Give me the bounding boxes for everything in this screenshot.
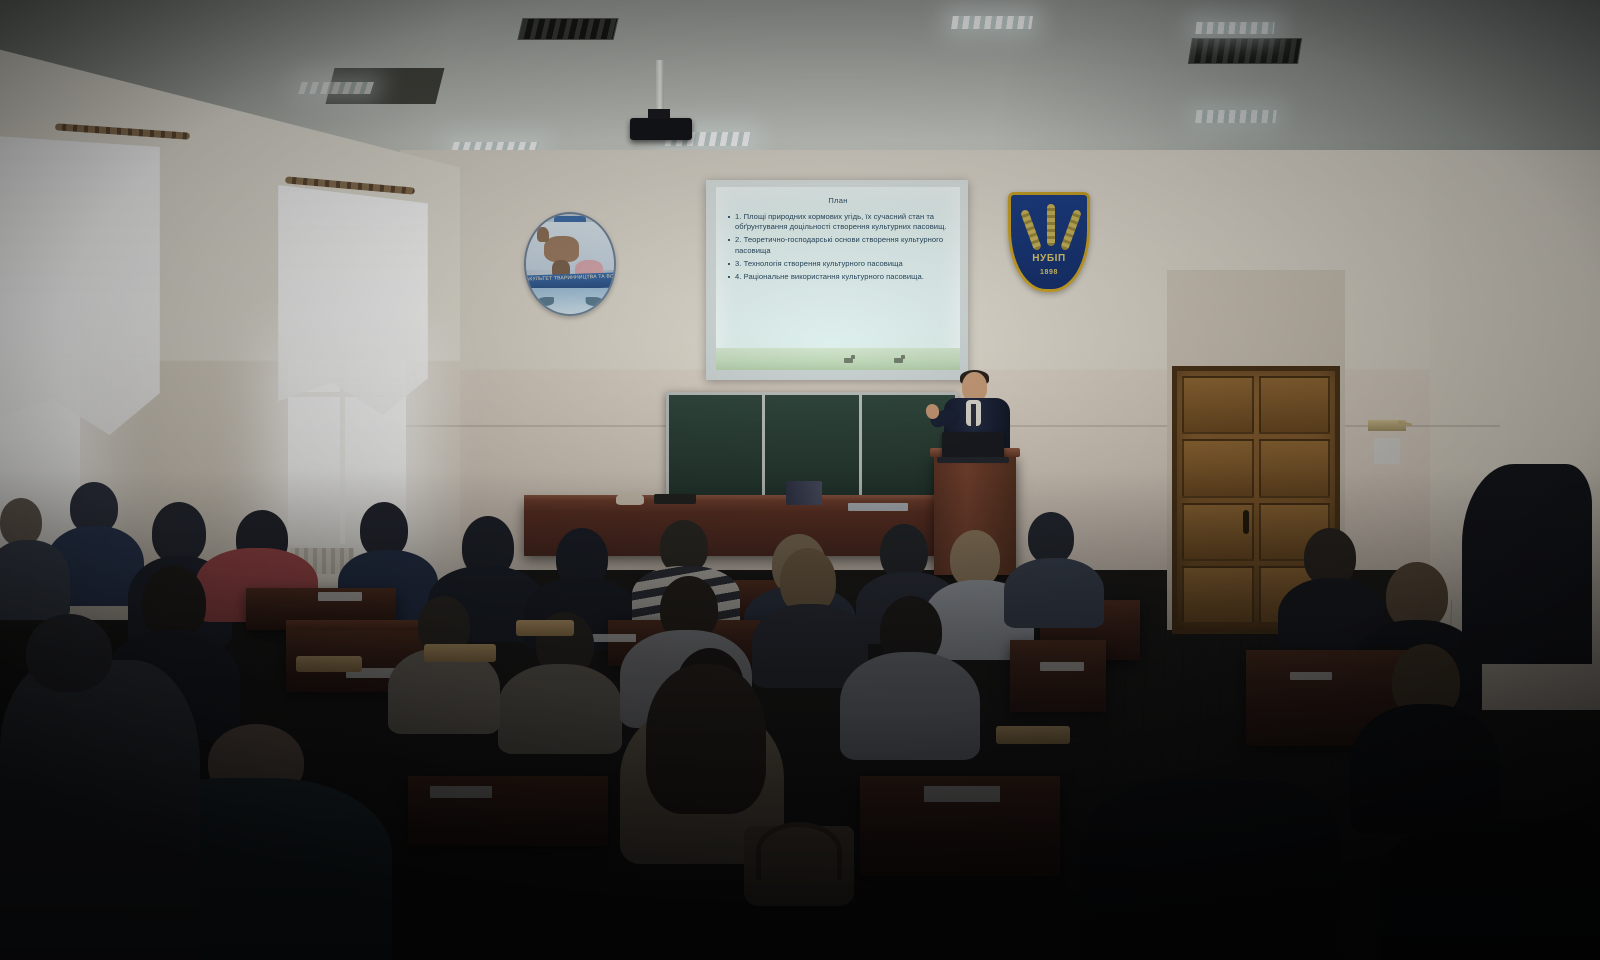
desk-object-box (654, 494, 696, 504)
student-head (26, 614, 112, 692)
standing-person-body (1462, 464, 1592, 664)
slide-bullet-4: 4. Раціональне використання культурного … (726, 272, 952, 282)
student-head (152, 502, 206, 564)
desk-row-mid-right (1010, 640, 1106, 712)
door-panel (1259, 439, 1331, 497)
wheat-icon-center (1047, 204, 1055, 246)
handbag-handle (756, 822, 842, 880)
student-body-front-far-right (1380, 820, 1600, 960)
door-panel (1182, 566, 1254, 624)
student-head (0, 498, 42, 546)
student-body-front-right (1080, 780, 1340, 960)
desk-paper (318, 592, 362, 601)
chalkboard-panel-1 (669, 395, 765, 497)
desk-object-bowl (616, 492, 644, 505)
chair (296, 656, 362, 672)
shield-name-text: НУБІП (1011, 253, 1087, 264)
desk-paper (430, 786, 492, 798)
slide-bullet-3: 3. Технологія створення культурного пасо… (726, 259, 952, 269)
curtain-left-far (0, 135, 160, 435)
lecture-hall-photo: ФАКУЛЬТЕТ ТВАРИННИЦТВА ТА ВОДНИХ БІОРЕСУ… (0, 0, 1600, 960)
student-body-grey (0, 660, 200, 960)
wheat-icon-right (1060, 209, 1082, 251)
laptop (942, 432, 1004, 458)
door-panel (1182, 376, 1254, 434)
student-head (1028, 512, 1074, 564)
fish-icon-right (586, 297, 604, 306)
chair (996, 726, 1070, 744)
chair (516, 620, 574, 636)
desk-paper (924, 786, 1000, 802)
faculty-emblem-band-text: ФАКУЛЬТЕТ ТВАРИННИЦТВА ТА ВОДНИХ БІОРЕСУ… (524, 272, 616, 283)
student-hair-long (646, 664, 766, 814)
wheat-icon-left (1020, 209, 1042, 251)
wall-bracket (1368, 420, 1406, 431)
student-body-beige (498, 664, 622, 754)
desk-binder (786, 481, 822, 505)
chair (424, 644, 496, 662)
lecturer-tie (971, 404, 976, 426)
shield-year-text: 1898 (1011, 269, 1087, 276)
cow-icon-1 (844, 358, 853, 363)
door-leaf-left[interactable] (1182, 376, 1254, 624)
slide-bullet-1: 1. Площі природних кормових угідь, їх су… (726, 212, 952, 232)
student-body (1004, 558, 1104, 628)
projection-screen: План 1. Площі природних кормових угідь, … (706, 180, 968, 380)
slide-bullet-list: 1. Площі природних кормових угідь, їх су… (726, 212, 952, 282)
desk-paper (1040, 662, 1084, 671)
slide-bullet-2: 2. Теоретично-господарські основи створе… (726, 235, 952, 255)
ceiling-projector (630, 118, 692, 140)
slide-title: План (716, 196, 960, 205)
door-panel (1259, 376, 1331, 434)
student-body-hoodie (840, 652, 980, 760)
door-panel (1182, 439, 1254, 497)
fish-icon-left (537, 297, 555, 306)
student-body (1350, 704, 1500, 834)
horse-icon (544, 236, 579, 262)
desk-paper (1290, 672, 1332, 680)
cow-icon-2 (894, 358, 903, 363)
wall-notice (1374, 438, 1400, 464)
student-head (142, 566, 206, 640)
faculty-emblem: ФАКУЛЬТЕТ ТВАРИННИЦТВА ТА ВОДНИХ БІОРЕСУ… (524, 212, 616, 316)
curtain-left-near (278, 185, 428, 415)
slide-pasture-photo (716, 348, 960, 370)
student-body (0, 540, 70, 620)
slide-surface: План 1. Площі природних кормових угідь, … (716, 187, 960, 370)
desk-papers (848, 503, 908, 511)
door-handle[interactable] (1243, 510, 1249, 534)
